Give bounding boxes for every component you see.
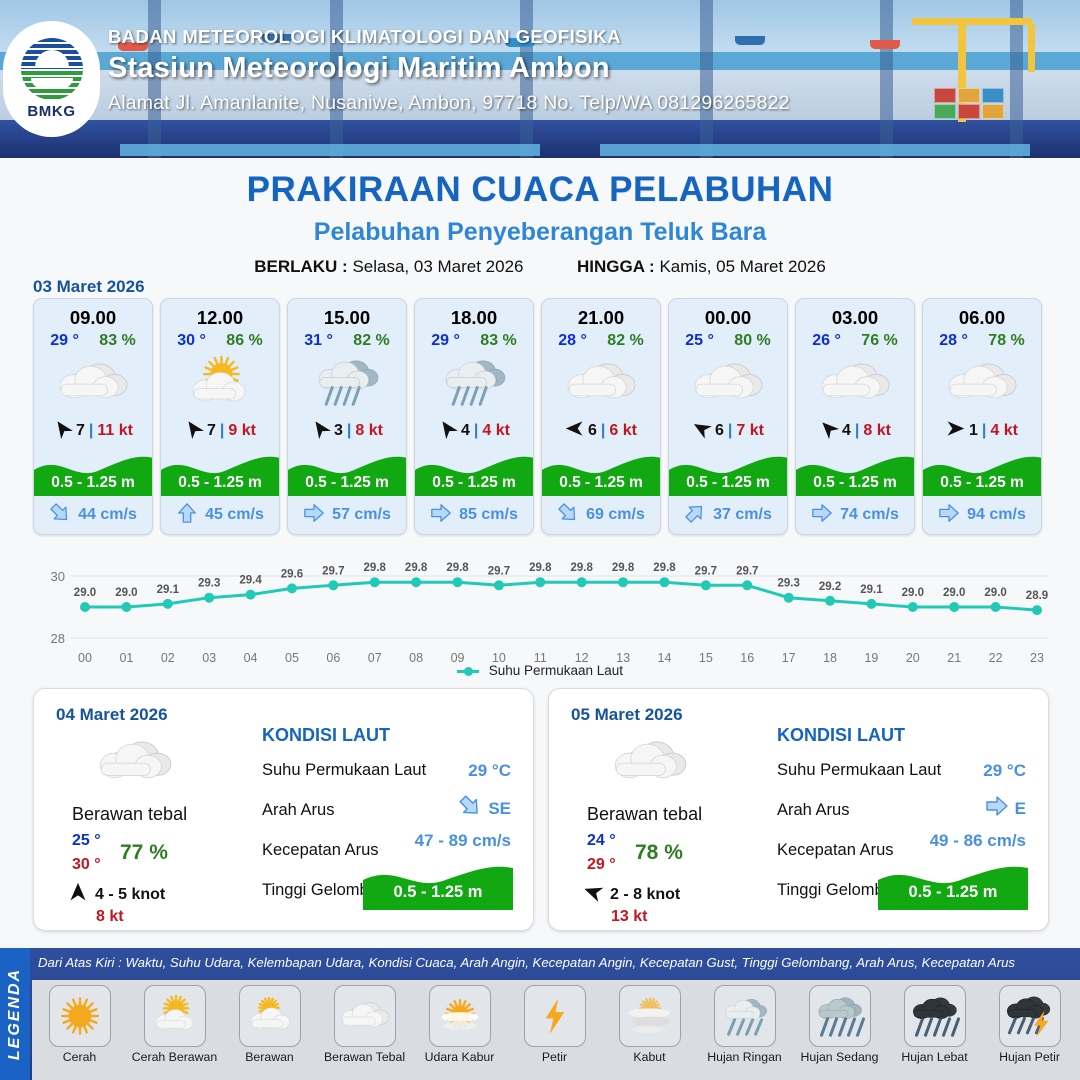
card-wind-row: 7 | 9 kt — [161, 414, 279, 448]
hourly-card[interactable]: 00.00 25 ° 80 % 6 | 7 kt 0.5 - 1.25 m — [668, 298, 788, 535]
svg-text:29.8: 29.8 — [653, 562, 676, 574]
day-temp-max: 29 ° — [587, 856, 616, 874]
legend-item-label: Hujan Ringan — [697, 1050, 792, 1064]
wind-direction-value: 3 — [334, 422, 343, 440]
label-current-speed: Kecepatan Arus — [777, 841, 894, 860]
svg-text:29.7: 29.7 — [695, 565, 717, 577]
berlaku-value: Selasa, 03 Maret 2026 — [352, 257, 523, 276]
wind-direction-value: 6 — [715, 422, 724, 440]
label-sst: Suhu Permukaan Laut — [262, 761, 426, 780]
wind-direction-value: 6 — [588, 422, 597, 440]
crane-icon — [1028, 24, 1035, 72]
terminal-pillar — [880, 0, 893, 158]
current-speed-value: 37 cm/s — [713, 506, 772, 524]
wind-speed-value: 4 kt — [990, 422, 1018, 440]
legend-hujan-sedang-icon — [809, 985, 871, 1047]
wind-separator: | — [601, 422, 605, 440]
day-wave-block: 0.5 - 1.25 m — [363, 854, 513, 910]
legend-cerah-berawan-icon — [144, 985, 206, 1047]
wind-separator: | — [347, 422, 351, 440]
day-wind-range: 4 - 5 knot — [95, 886, 165, 904]
legend-side-title: LEGENDA — [0, 948, 30, 1080]
wind-direction-arrow-icon — [68, 882, 88, 907]
card-temperature: 30 ° — [177, 332, 206, 350]
card-time: 00.00 — [669, 299, 787, 331]
value-current-speed: 47 - 89 cm/s — [415, 831, 511, 851]
hourly-card[interactable]: 12.00 30 ° 86 % 7 | 9 kt 0.5 - 1.25 m 45… — [160, 298, 280, 535]
card-temperature: 25 ° — [685, 332, 714, 350]
weather-condition-icon — [161, 352, 279, 414]
weather-condition-icon — [415, 352, 533, 414]
title-block: PRAKIRAAN CUACA PELABUHAN Pelabuhan Peny… — [0, 170, 1080, 277]
card-current-row: 85 cm/s — [415, 496, 533, 534]
weather-condition-icon — [288, 352, 406, 414]
card-temp-hum-row: 31 ° 82 % — [288, 331, 406, 350]
day-condition: Berawan tebal — [72, 804, 187, 825]
svg-text:29.8: 29.8 — [612, 562, 635, 574]
current-direction-arrow-icon — [811, 502, 833, 529]
legend-hujan-ringan-icon — [714, 985, 776, 1047]
card-temp-hum-row: 26 ° 76 % — [796, 331, 914, 350]
wave-height-value: 0.5 - 1.25 m — [415, 474, 533, 492]
current-direction-arrow-icon — [430, 502, 452, 529]
day-gust: 13 kt — [611, 908, 647, 926]
wind-direction-value: 4 — [842, 422, 851, 440]
card-current-row: 74 cm/s — [796, 496, 914, 534]
legend-hujan-lebat-icon — [904, 985, 966, 1047]
legend-item-label: Berawan Tebal — [317, 1050, 412, 1064]
legend-item: Berawan — [222, 980, 317, 1064]
wave-height-value: 0.5 - 1.25 m — [796, 474, 914, 492]
legend-berawan-icon — [239, 985, 301, 1047]
card-current-row: 44 cm/s — [34, 496, 152, 534]
hingga-value: Kamis, 05 Maret 2026 — [659, 257, 825, 276]
wind-direction-arrow-icon — [946, 419, 965, 443]
wave-height-block: 0.5 - 1.25 m — [288, 448, 406, 496]
legend-icon-strip: Cerah Cerah Berawan Berawan Berawan Teba… — [32, 980, 1080, 1080]
svg-text:29.2: 29.2 — [819, 581, 841, 593]
svg-text:29.1: 29.1 — [157, 584, 180, 596]
svg-text:29.3: 29.3 — [198, 578, 220, 590]
wave-height-value: 0.5 - 1.25 m — [34, 474, 152, 492]
card-time: 15.00 — [288, 299, 406, 331]
card-temp-hum-row: 25 ° 80 % — [669, 331, 787, 350]
wind-direction-arrow-icon — [311, 419, 330, 443]
svg-text:29.8: 29.8 — [529, 562, 552, 574]
card-temperature: 28 ° — [939, 332, 968, 350]
current-direction-arrow-icon — [303, 502, 325, 529]
label-current-direction: Arah Arus — [777, 801, 849, 820]
day-weather-icon — [611, 733, 689, 796]
wave-height-block: 0.5 - 1.25 m — [923, 448, 1041, 496]
wind-direction-arrow-icon — [565, 419, 584, 443]
station-name: Stasiun Meteorologi Maritim Ambon — [108, 52, 790, 85]
current-speed-value: 45 cm/s — [205, 506, 264, 524]
svg-text:29.0: 29.0 — [115, 587, 137, 599]
wind-direction-value: 7 — [76, 422, 85, 440]
current-direction-arrow-icon — [458, 794, 482, 823]
hourly-card[interactable]: 21.00 28 ° 82 % 6 | 6 kt 0.5 - 1.25 m — [541, 298, 661, 535]
weather-condition-icon — [669, 352, 787, 414]
wind-separator: | — [220, 422, 224, 440]
wind-speed-value: 6 kt — [609, 422, 637, 440]
daily-forecast-row: 04 Maret 2026 Berawan tebal 25 ° 30 ° 77… — [33, 688, 1049, 931]
container-icon — [982, 88, 1004, 103]
svg-text:29.7: 29.7 — [322, 565, 344, 577]
legend-label: Suhu Permukaan Laut — [489, 663, 623, 678]
container-icon — [982, 104, 1004, 119]
legend-item-label: Cerah Berawan — [127, 1050, 222, 1064]
day-weather-icon — [96, 733, 174, 796]
legend-item-label: Hujan Petir — [982, 1050, 1077, 1064]
value-current-direction-row: E — [985, 794, 1026, 823]
wind-direction-value: 4 — [461, 422, 470, 440]
card-humidity: 83 % — [480, 332, 516, 350]
day-temp-max: 30 ° — [72, 856, 101, 874]
waiting-chairs — [120, 144, 540, 156]
hourly-card[interactable]: 06.00 28 ° 78 % 1 | 4 kt 0.5 - 1.25 m — [922, 298, 1042, 535]
wave-height-block: 0.5 - 1.25 m — [161, 448, 279, 496]
agency-name: BADAN METEOROLOGI KLIMATOLOGI DAN GEOFIS… — [108, 26, 790, 48]
card-temp-hum-row: 28 ° 82 % — [542, 331, 660, 350]
wave-height-block: 0.5 - 1.25 m — [34, 448, 152, 496]
value-current-speed: 49 - 86 cm/s — [930, 831, 1026, 851]
card-humidity: 76 % — [861, 332, 897, 350]
day-wind-row: 2 - 8 knot — [583, 882, 680, 907]
svg-text:29.8: 29.8 — [446, 562, 469, 574]
card-humidity: 80 % — [734, 332, 770, 350]
card-humidity: 78 % — [988, 332, 1024, 350]
wave-height-block: 0.5 - 1.25 m — [415, 448, 533, 496]
svg-text:29.3: 29.3 — [777, 578, 799, 590]
weather-condition-icon — [34, 352, 152, 414]
card-temp-hum-row: 28 ° 78 % — [923, 331, 1041, 350]
svg-text:29.8: 29.8 — [364, 562, 387, 574]
wind-separator: | — [89, 422, 93, 440]
wind-speed-value: 7 kt — [736, 422, 764, 440]
hourly-forecast-row: 09.00 29 ° 83 % 7 | 11 kt 0.5 - 1.25 m — [33, 298, 1049, 535]
wind-speed-value: 11 kt — [97, 422, 133, 440]
page-subtitle: Pelabuhan Penyeberangan Teluk Bara — [0, 218, 1080, 247]
card-temp-hum-row: 30 ° 86 % — [161, 331, 279, 350]
svg-text:29.1: 29.1 — [860, 584, 883, 596]
wind-separator: | — [982, 422, 986, 440]
card-temp-hum-row: 29 ° 83 % — [34, 331, 152, 350]
container-icon — [934, 88, 956, 103]
value-sst: 29 °C — [983, 761, 1026, 781]
legend-item: Hujan Lebat — [887, 980, 982, 1064]
card-wind-row: 6 | 7 kt — [669, 414, 787, 448]
hourly-card[interactable]: 15.00 31 ° 82 % 3 | 8 kt 0.5 - 1.25 m — [287, 298, 407, 535]
svg-text:29.7: 29.7 — [488, 565, 510, 577]
svg-text:29.6: 29.6 — [281, 568, 303, 580]
legend-item-label: Berawan — [222, 1050, 317, 1064]
legend-item-label: Petir — [507, 1050, 602, 1064]
value-current-direction: SE — [488, 799, 511, 819]
hourly-card[interactable]: 18.00 29 ° 83 % 4 | 4 kt 0.5 - 1.25 m — [414, 298, 534, 535]
svg-text:28.9: 28.9 — [1026, 590, 1048, 602]
legend-item: Hujan Sedang — [792, 980, 887, 1064]
day-gust: 8 kt — [96, 908, 124, 926]
wind-direction-value: 1 — [969, 422, 978, 440]
wind-direction-value: 7 — [207, 422, 216, 440]
crane-icon — [912, 18, 1032, 25]
legend-item: Udara Kabur — [412, 980, 507, 1064]
day-date: 05 Maret 2026 — [571, 705, 683, 725]
legend-kabut-icon — [619, 985, 681, 1047]
card-time: 21.00 — [542, 299, 660, 331]
wind-separator: | — [855, 422, 859, 440]
current-direction-arrow-icon — [176, 502, 198, 529]
svg-text:29.8: 29.8 — [405, 562, 428, 574]
current-speed-value: 94 cm/s — [967, 506, 1026, 524]
card-temperature: 29 ° — [50, 332, 79, 350]
legend-berawan-tebal-icon — [334, 985, 396, 1047]
hingga-label: HINGGA : — [577, 257, 655, 276]
card-temp-hum-row: 29 ° 83 % — [415, 331, 533, 350]
container-icon — [958, 104, 980, 119]
wave-height-block: 0.5 - 1.25 m — [669, 448, 787, 496]
validity-row: BERLAKU : Selasa, 03 Maret 2026 HINGGA :… — [0, 257, 1080, 277]
station-address: Alamat Jl. Amanlanite, Nusaniwe, Ambon, … — [108, 92, 790, 115]
current-speed-value: 74 cm/s — [840, 506, 899, 524]
card-current-row: 57 cm/s — [288, 496, 406, 534]
wave-height-value: 0.5 - 1.25 m — [542, 474, 660, 492]
legend-line-marker — [457, 670, 479, 673]
card-time: 03.00 — [796, 299, 914, 331]
current-speed-value: 85 cm/s — [459, 506, 518, 524]
day-wave-block: 0.5 - 1.25 m — [878, 854, 1028, 910]
weather-condition-icon — [923, 352, 1041, 414]
legend-item: Berawan Tebal — [317, 980, 412, 1064]
wind-speed-value: 4 kt — [482, 422, 510, 440]
legend-item: Hujan Petir — [982, 980, 1077, 1064]
bmkg-logo-mark — [21, 38, 83, 100]
card-wind-row: 6 | 6 kt — [542, 414, 660, 448]
card-humidity: 82 % — [607, 332, 643, 350]
wind-speed-value: 8 kt — [863, 422, 891, 440]
value-current-direction: E — [1015, 799, 1026, 819]
current-direction-arrow-icon — [938, 502, 960, 529]
wind-separator: | — [474, 422, 478, 440]
ship-icon — [870, 40, 900, 49]
legend-item-label: Cerah — [32, 1050, 127, 1064]
card-temperature: 31 ° — [304, 332, 333, 350]
bmkg-logo: BMKG — [3, 21, 100, 137]
current-direction-arrow-icon — [985, 794, 1009, 823]
card-wind-row: 7 | 11 kt — [34, 414, 152, 448]
svg-text:29.7: 29.7 — [736, 565, 758, 577]
hourly-card[interactable]: 03.00 26 ° 76 % 4 | 8 kt 0.5 - 1.25 m — [795, 298, 915, 535]
weather-condition-icon — [542, 352, 660, 414]
card-current-row: 37 cm/s — [669, 496, 787, 534]
day-humidity: 78 % — [635, 841, 683, 865]
card-temperature: 28 ° — [558, 332, 587, 350]
chart-legend: Suhu Permukaan Laut — [0, 663, 1080, 678]
hourly-card[interactable]: 09.00 29 ° 83 % 7 | 11 kt 0.5 - 1.25 m — [33, 298, 153, 535]
svg-text:29.4: 29.4 — [239, 575, 262, 587]
berlaku-label: BERLAKU : — [254, 257, 348, 276]
value-current-direction-row: SE — [458, 794, 511, 823]
hourly-date-label: 03 Maret 2026 — [33, 277, 145, 297]
day-humidity: 77 % — [120, 841, 168, 865]
page-header: BMKG BADAN METEOROLOGI KLIMATOLOGI DAN G… — [0, 0, 1080, 158]
wind-direction-arrow-icon — [692, 419, 711, 443]
day-temp-min: 24 ° — [587, 832, 616, 850]
legend-note: Dari Atas Kiri : Waktu, Suhu Udara, Kele… — [38, 955, 1073, 970]
current-direction-arrow-icon — [49, 502, 71, 529]
legend-petir-icon — [524, 985, 586, 1047]
card-humidity: 82 % — [353, 332, 389, 350]
legend-hujan-petir-icon — [999, 985, 1061, 1047]
card-humidity: 86 % — [226, 332, 262, 350]
card-temperature: 26 ° — [812, 332, 841, 350]
container-icon — [958, 88, 980, 103]
sea-conditions-title: KONDISI LAUT — [262, 725, 390, 746]
wind-direction-arrow-icon — [438, 419, 457, 443]
container-icon — [934, 104, 956, 119]
legend-item: Petir — [507, 980, 602, 1064]
daily-forecast-panel[interactable]: 05 Maret 2026 Berawan tebal 24 ° 29 ° 78… — [548, 688, 1049, 931]
wind-speed-value: 9 kt — [228, 422, 256, 440]
weather-condition-icon — [796, 352, 914, 414]
legend-item-label: Hujan Lebat — [887, 1050, 982, 1064]
card-time: 06.00 — [923, 299, 1041, 331]
current-speed-value: 44 cm/s — [78, 506, 137, 524]
card-wind-row: 4 | 8 kt — [796, 414, 914, 448]
card-current-row: 45 cm/s — [161, 496, 279, 534]
wave-height-block: 0.5 - 1.25 m — [542, 448, 660, 496]
wind-direction-arrow-icon — [53, 419, 72, 443]
legend-item-label: Udara Kabur — [412, 1050, 507, 1064]
legend-side-text: LEGENDA — [6, 968, 24, 1060]
wave-height-value: 0.5 - 1.25 m — [923, 474, 1041, 492]
wave-height-value: 0.5 - 1.25 m — [288, 474, 406, 492]
current-speed-value: 69 cm/s — [586, 506, 645, 524]
value-wave-height: 0.5 - 1.25 m — [363, 883, 513, 902]
header-text-block: BADAN METEOROLOGI KLIMATOLOGI DAN GEOFIS… — [108, 26, 790, 115]
current-direction-arrow-icon — [684, 502, 706, 529]
page-title: PRAKIRAAN CUACA PELABUHAN — [0, 170, 1080, 210]
wave-height-value: 0.5 - 1.25 m — [669, 474, 787, 492]
wind-direction-arrow-icon — [583, 882, 603, 907]
legend-cerah-icon — [49, 985, 111, 1047]
wave-height-block: 0.5 - 1.25 m — [796, 448, 914, 496]
card-humidity: 83 % — [99, 332, 135, 350]
label-current-speed: Kecepatan Arus — [262, 841, 379, 860]
svg-text:30: 30 — [51, 569, 65, 584]
label-sst: Suhu Permukaan Laut — [777, 761, 941, 780]
card-wind-row: 1 | 4 kt — [923, 414, 1041, 448]
card-time: 12.00 — [161, 299, 279, 331]
label-current-direction: Arah Arus — [262, 801, 334, 820]
sea-conditions-title: KONDISI LAUT — [777, 725, 905, 746]
day-date: 04 Maret 2026 — [56, 705, 168, 725]
legend-item: Kabut — [602, 980, 697, 1064]
wind-direction-arrow-icon — [184, 419, 203, 443]
svg-text:29.0: 29.0 — [902, 587, 924, 599]
wind-separator: | — [728, 422, 732, 440]
svg-text:28: 28 — [51, 631, 65, 646]
current-direction-arrow-icon — [557, 502, 579, 529]
wave-height-value: 0.5 - 1.25 m — [161, 474, 279, 492]
svg-text:29.0: 29.0 — [943, 587, 965, 599]
legend-item: Cerah — [32, 980, 127, 1064]
current-speed-value: 57 cm/s — [332, 506, 391, 524]
day-wind-row: 4 - 5 knot — [68, 882, 165, 907]
wind-direction-arrow-icon — [819, 419, 838, 443]
legend-item: Hujan Ringan — [697, 980, 792, 1064]
legend-udara-kabur-icon — [429, 985, 491, 1047]
svg-text:29.0: 29.0 — [74, 587, 96, 599]
day-temp-min: 25 ° — [72, 832, 101, 850]
legend-item-label: Kabut — [602, 1050, 697, 1064]
svg-text:29.8: 29.8 — [571, 562, 594, 574]
card-wind-row: 3 | 8 kt — [288, 414, 406, 448]
card-wind-row: 4 | 4 kt — [415, 414, 533, 448]
value-wave-height: 0.5 - 1.25 m — [878, 883, 1028, 902]
card-current-row: 94 cm/s — [923, 496, 1041, 534]
card-current-row: 69 cm/s — [542, 496, 660, 534]
bmkg-logo-text: BMKG — [27, 103, 75, 120]
legend-item: Cerah Berawan — [127, 980, 222, 1064]
wind-speed-value: 8 kt — [355, 422, 383, 440]
daily-forecast-panel[interactable]: 04 Maret 2026 Berawan tebal 25 ° 30 ° 77… — [33, 688, 534, 931]
card-time: 18.00 — [415, 299, 533, 331]
value-sst: 29 °C — [468, 761, 511, 781]
day-condition: Berawan tebal — [587, 804, 702, 825]
card-temperature: 29 ° — [431, 332, 460, 350]
svg-text:29.0: 29.0 — [984, 587, 1006, 599]
day-wind-range: 2 - 8 knot — [610, 886, 680, 904]
legend-item-label: Hujan Sedang — [792, 1050, 887, 1064]
card-time: 09.00 — [34, 299, 152, 331]
waiting-chairs — [600, 144, 1030, 156]
